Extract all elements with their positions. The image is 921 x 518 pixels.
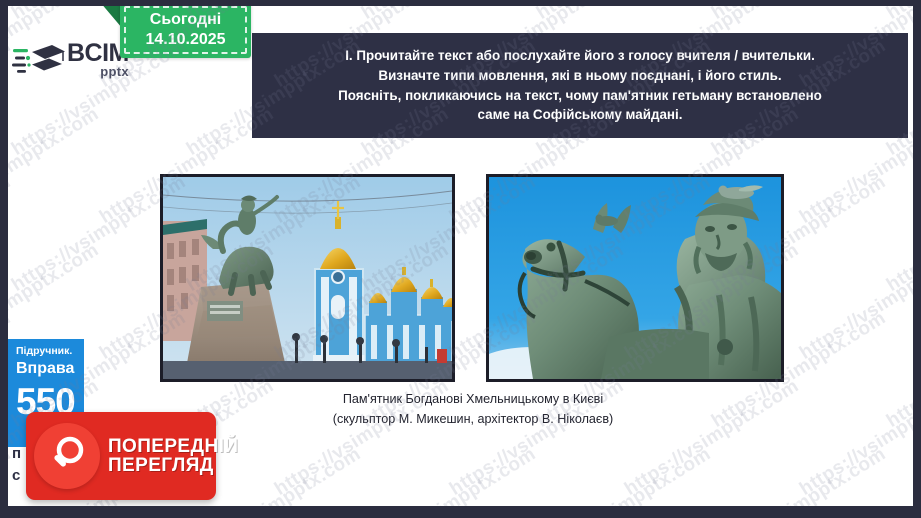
preview-line-2: ПЕРЕГЛЯД <box>108 456 238 475</box>
watermark-text: https://vsimpptx.com <box>796 375 913 500</box>
watermark-text: https://vsimpptx.com <box>708 443 890 506</box>
ribbon-fold-decoration <box>100 6 122 28</box>
logo-sub-text: pptx <box>100 66 129 78</box>
instruction-line-4: саме на Софійському майдані. <box>478 105 683 125</box>
today-label: Сьогодні <box>150 10 221 30</box>
instruction-line-2: Визначте типи мовлення, які в ньому поєд… <box>378 66 781 86</box>
watermark-text: https://vsimpptx.com <box>8 6 15 25</box>
magnifier-icon <box>34 423 100 489</box>
watermark-text: https://vsimpptx.com <box>708 6 890 25</box>
watermark-text: https://vsimpptx.com <box>883 307 913 432</box>
watermark-text: https://vsimpptx.com <box>533 6 715 25</box>
caption-line-1: Пам'ятник Богданові Хмельницькому в Києв… <box>188 390 758 410</box>
today-date: 14.10.2025 <box>145 30 225 50</box>
today-date-badge: Сьогодні 14.10.2025 <box>120 6 251 58</box>
watermark-text: https://vsimpptx.com <box>358 443 540 506</box>
watermark-text: https://vsimpptx.com <box>358 6 540 25</box>
preview-watermark-badge: ПОПЕРЕДНІЙ ПЕРЕГЛЯД <box>26 412 216 500</box>
watermark-text: https://vsimpptx.com <box>8 103 103 228</box>
preview-text: ПОПЕРЕДНІЙ ПЕРЕГЛЯД <box>108 437 238 475</box>
exercise-label: Вправа <box>16 359 78 379</box>
brand-logo: BCIM pptx <box>12 32 132 88</box>
caption-line-2: (скульптор М. Микешин, архітектор В. Нік… <box>188 410 758 430</box>
monument-wide-photo <box>160 174 455 382</box>
monument-closeup-photo <box>486 174 784 382</box>
watermark-text: https://vsimpptx.com <box>883 443 913 506</box>
watermark-text: https://vsimpptx.com <box>8 171 15 296</box>
watermark-text: https://vsimpptx.com <box>883 171 913 296</box>
instruction-banner: I. Прочитайте текст або послухайте його … <box>252 33 908 138</box>
watermark-text: https://vsimpptx.com <box>883 6 913 25</box>
photo-caption: Пам'ятник Богданові Хмельницькому в Києв… <box>188 390 758 429</box>
instruction-line-1: I. Прочитайте текст або послухайте його … <box>345 46 815 66</box>
watermark-text: https://vsimpptx.com <box>796 239 913 364</box>
graduation-cap-icon <box>12 39 66 81</box>
preview-line-1: ПОПЕРЕДНІЙ <box>108 437 238 456</box>
date-badge-container: Сьогодні 14.10.2025 <box>120 6 268 62</box>
instruction-line-3: Поясніть, покликаючись на текст, чому па… <box>338 86 822 106</box>
watermark-text: https://vsimpptx.com <box>533 443 715 506</box>
textbook-label: Підручник. <box>16 345 78 358</box>
slide-canvas: BCIM pptx Сьогодні 14.10.2025 I. Прочита… <box>8 6 913 506</box>
